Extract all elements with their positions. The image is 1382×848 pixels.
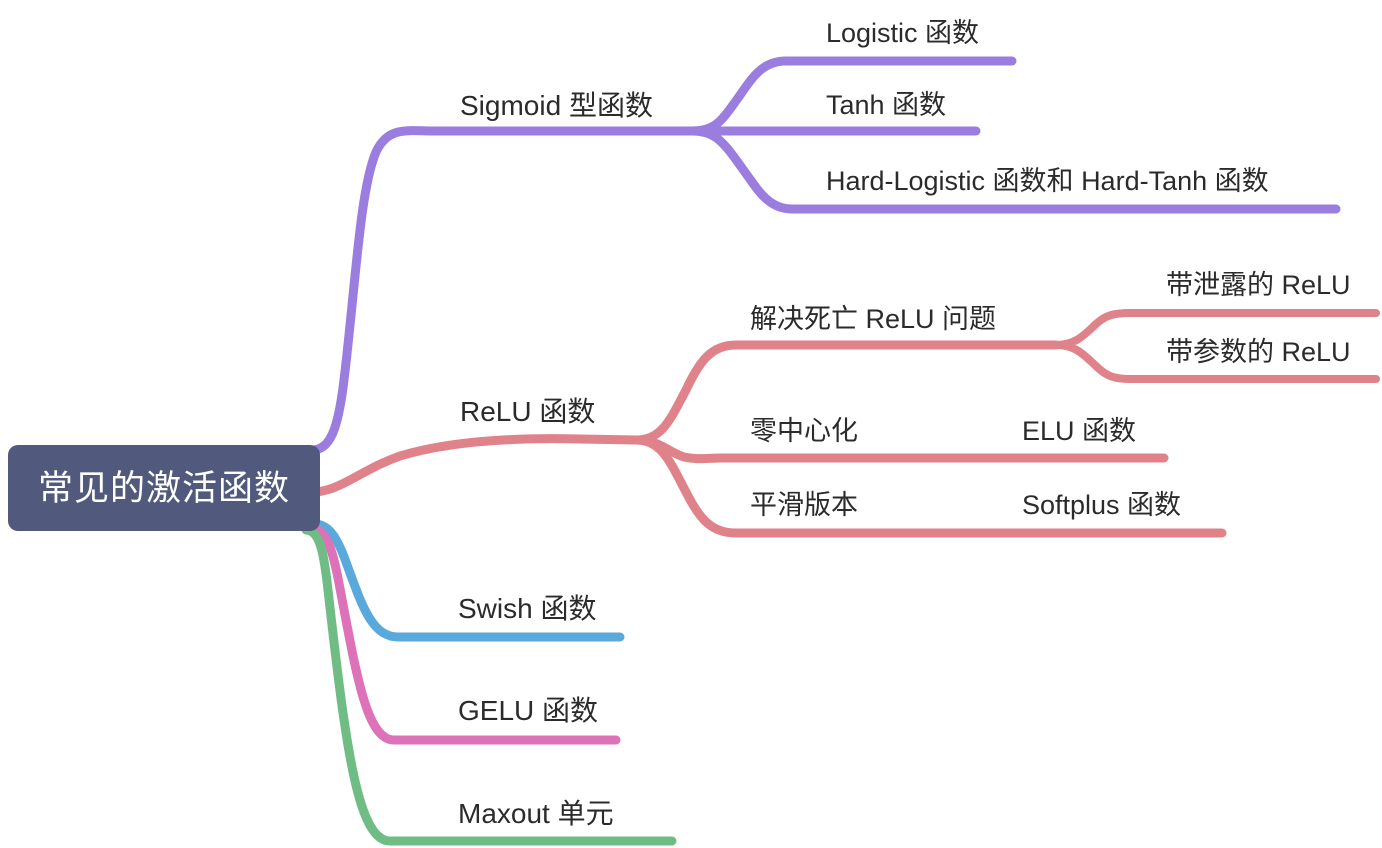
- node-label-smooth-version[interactable]: 平滑版本: [750, 492, 858, 519]
- node-label-maxout[interactable]: Maxout 单元: [458, 800, 614, 828]
- root-node-label: 常见的激活函数: [38, 471, 290, 506]
- node-label-zero-centered[interactable]: 零中心化: [750, 418, 858, 445]
- mindmap-canvas: [0, 0, 1382, 848]
- node-label-gelu[interactable]: GELU 函数: [458, 697, 598, 725]
- node-label-dead-relu[interactable]: 解决死亡 ReLU 问题: [750, 306, 996, 333]
- node-label-tanh[interactable]: Tanh 函数: [826, 92, 946, 119]
- node-label-logistic[interactable]: Logistic 函数: [826, 20, 979, 47]
- node-label-relu[interactable]: ReLU 函数: [460, 398, 595, 426]
- node-label-swish[interactable]: Swish 函数: [458, 595, 596, 623]
- node-label-leaky-relu[interactable]: 带泄露的 ReLU: [1166, 272, 1351, 299]
- node-label-elu[interactable]: ELU 函数: [1022, 418, 1136, 445]
- node-label-prelu[interactable]: 带参数的 ReLU: [1166, 339, 1351, 366]
- root-node[interactable]: 常见的激活函数: [8, 445, 320, 531]
- branch-line-relu[interactable]: [312, 439, 636, 492]
- node-label-softplus[interactable]: Softplus 函数: [1022, 492, 1181, 519]
- node-label-hard-logistic-tanh[interactable]: Hard-Logistic 函数和 Hard-Tanh 函数: [826, 168, 1269, 195]
- node-label-sigmoid[interactable]: Sigmoid 型函数: [460, 92, 653, 120]
